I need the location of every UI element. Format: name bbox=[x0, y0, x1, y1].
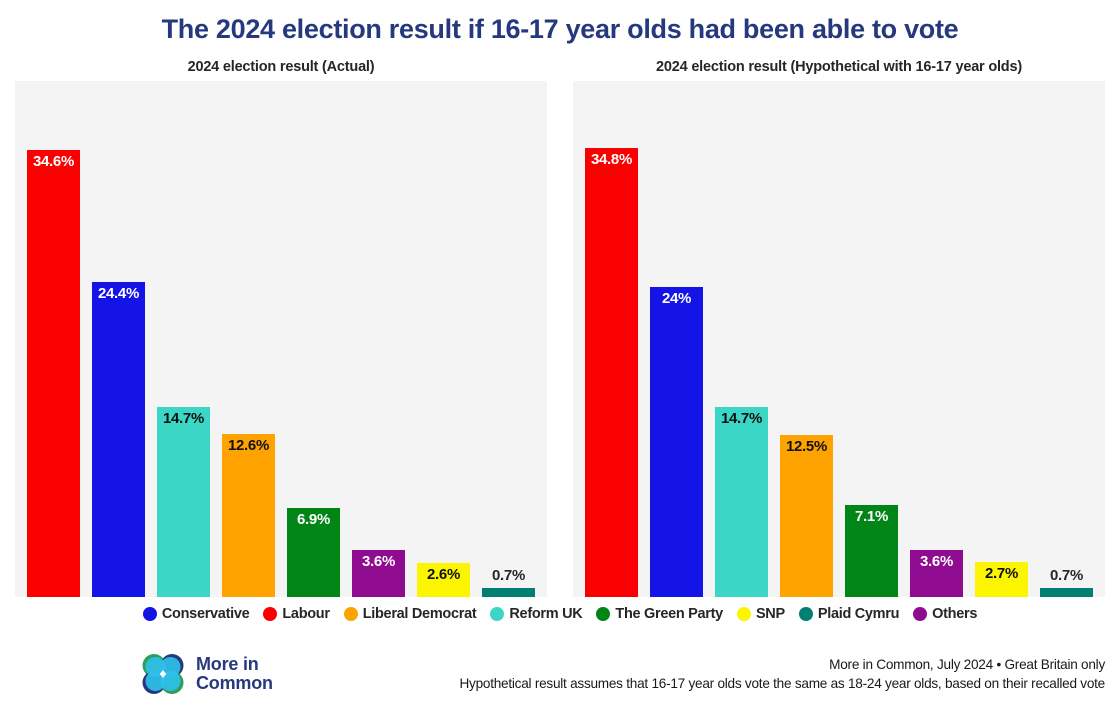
brand-name-line2: Common bbox=[196, 674, 273, 693]
bar-value-label: 24% bbox=[650, 290, 703, 307]
more-in-common-logo-icon bbox=[140, 653, 186, 695]
bar: 14.7% bbox=[715, 407, 768, 597]
bar: 34.8% bbox=[585, 148, 638, 597]
bar-value-label: 7.1% bbox=[845, 508, 898, 525]
bar-slot: 3.6% bbox=[910, 81, 963, 597]
legend-swatch-icon bbox=[799, 607, 813, 621]
footer: More in Common More in Common, July 2024… bbox=[0, 627, 1120, 728]
bar-slot: 34.6% bbox=[27, 81, 80, 597]
chart-panel-hypothetical: 2024 election result (Hypothetical with … bbox=[573, 59, 1105, 597]
legend-item-reform-uk[interactable]: Reform UK bbox=[490, 606, 582, 622]
footer-notes: More in Common, July 2024 • Great Britai… bbox=[459, 655, 1105, 694]
legend-label: Liberal Democrat bbox=[363, 606, 477, 622]
chart-panel-actual: 2024 election result (Actual) 34.6%24.4%… bbox=[15, 59, 547, 597]
bar-slot: 2.7% bbox=[975, 81, 1028, 597]
brand-name-line1: More in bbox=[196, 655, 273, 674]
bar-slot: 14.7% bbox=[157, 81, 210, 597]
bar-value-label: 14.7% bbox=[715, 410, 768, 427]
bar: 7.1% bbox=[845, 505, 898, 597]
bar: 6.9% bbox=[287, 508, 340, 597]
legend-label: Plaid Cymru bbox=[818, 606, 899, 622]
legend-label: Conservative bbox=[162, 606, 249, 622]
bar: 14.7% bbox=[157, 407, 210, 597]
bar: 3.6% bbox=[910, 550, 963, 596]
bar-value-label: 6.9% bbox=[287, 511, 340, 528]
bar-slot: 7.1% bbox=[845, 81, 898, 597]
legend-item-labour[interactable]: Labour bbox=[263, 606, 329, 622]
bar-value-label: 14.7% bbox=[157, 410, 210, 427]
brand-lockup: More in Common bbox=[140, 653, 273, 695]
bar: 12.5% bbox=[780, 435, 833, 596]
bar-slot: 0.7% bbox=[482, 81, 535, 597]
bar-slot: 34.8% bbox=[585, 81, 638, 597]
legend-label: Reform UK bbox=[509, 606, 582, 622]
legend-swatch-icon bbox=[596, 607, 610, 621]
bar: 0.7% bbox=[482, 588, 535, 597]
bar: 2.6% bbox=[417, 563, 470, 597]
bar: 2.7% bbox=[975, 562, 1028, 597]
bar: 24.4% bbox=[92, 282, 145, 597]
legend-swatch-icon bbox=[737, 607, 751, 621]
chart-subtitle-hypothetical: 2024 election result (Hypothetical with … bbox=[573, 59, 1105, 81]
chart-legend: ConservativeLabourLiberal DemocratReform… bbox=[0, 601, 1120, 627]
bar-value-label: 3.6% bbox=[910, 553, 963, 570]
bar-value-label: 12.5% bbox=[780, 438, 833, 455]
legend-item-plaid-cymru[interactable]: Plaid Cymru bbox=[799, 606, 899, 622]
legend-swatch-icon bbox=[344, 607, 358, 621]
bar-slot: 24.4% bbox=[92, 81, 145, 597]
infographic-page: The 2024 election result if 16-17 year o… bbox=[0, 0, 1120, 728]
bar-slot: 14.7% bbox=[715, 81, 768, 597]
legend-swatch-icon bbox=[490, 607, 504, 621]
bar-slot: 0.7% bbox=[1040, 81, 1093, 597]
bar-slot: 3.6% bbox=[352, 81, 405, 597]
legend-swatch-icon bbox=[913, 607, 927, 621]
bar: 24% bbox=[650, 287, 703, 597]
bar-value-label: 12.6% bbox=[222, 437, 275, 454]
source-note: More in Common, July 2024 • Great Britai… bbox=[459, 655, 1105, 675]
legend-swatch-icon bbox=[263, 607, 277, 621]
brand-name: More in Common bbox=[196, 655, 273, 693]
bar-value-label: 34.6% bbox=[27, 153, 80, 170]
legend-label: The Green Party bbox=[615, 606, 723, 622]
bar-value-label: 3.6% bbox=[352, 553, 405, 570]
bar-value-label: 2.7% bbox=[975, 565, 1028, 582]
bar-slot: 12.5% bbox=[780, 81, 833, 597]
bar: 34.6% bbox=[27, 150, 80, 596]
plot-area-actual: 34.6%24.4%14.7%12.6%6.9%3.6%2.6%0.7% bbox=[15, 81, 547, 597]
legend-item-others[interactable]: Others bbox=[913, 606, 977, 622]
bar-value-label: 2.6% bbox=[417, 566, 470, 583]
chart-subtitle-actual: 2024 election result (Actual) bbox=[15, 59, 547, 81]
bar-slot: 24% bbox=[650, 81, 703, 597]
legend-label: Others bbox=[932, 606, 977, 622]
legend-item-conservative[interactable]: Conservative bbox=[143, 606, 249, 622]
page-title: The 2024 election result if 16-17 year o… bbox=[0, 15, 1120, 45]
legend-item-liberal-democrat[interactable]: Liberal Democrat bbox=[344, 606, 477, 622]
methodology-note: Hypothetical result assumes that 16-17 y… bbox=[459, 674, 1105, 694]
bar: 0.7% bbox=[1040, 588, 1093, 597]
bar-value-label: 0.7% bbox=[1040, 567, 1093, 584]
bar-value-label: 24.4% bbox=[92, 285, 145, 302]
charts-container: 2024 election result (Actual) 34.6%24.4%… bbox=[0, 59, 1120, 597]
bar-value-label: 34.8% bbox=[585, 151, 638, 168]
bar-slot: 6.9% bbox=[287, 81, 340, 597]
legend-swatch-icon bbox=[143, 607, 157, 621]
legend-item-the-green-party[interactable]: The Green Party bbox=[596, 606, 723, 622]
bar-slot: 2.6% bbox=[417, 81, 470, 597]
bar: 3.6% bbox=[352, 550, 405, 596]
bar: 12.6% bbox=[222, 434, 275, 597]
legend-item-snp[interactable]: SNP bbox=[737, 606, 785, 622]
bar-slot: 12.6% bbox=[222, 81, 275, 597]
plot-area-hypothetical: 34.8%24%14.7%12.5%7.1%3.6%2.7%0.7% bbox=[573, 81, 1105, 597]
legend-label: Labour bbox=[282, 606, 329, 622]
legend-label: SNP bbox=[756, 606, 785, 622]
bar-value-label: 0.7% bbox=[482, 567, 535, 584]
